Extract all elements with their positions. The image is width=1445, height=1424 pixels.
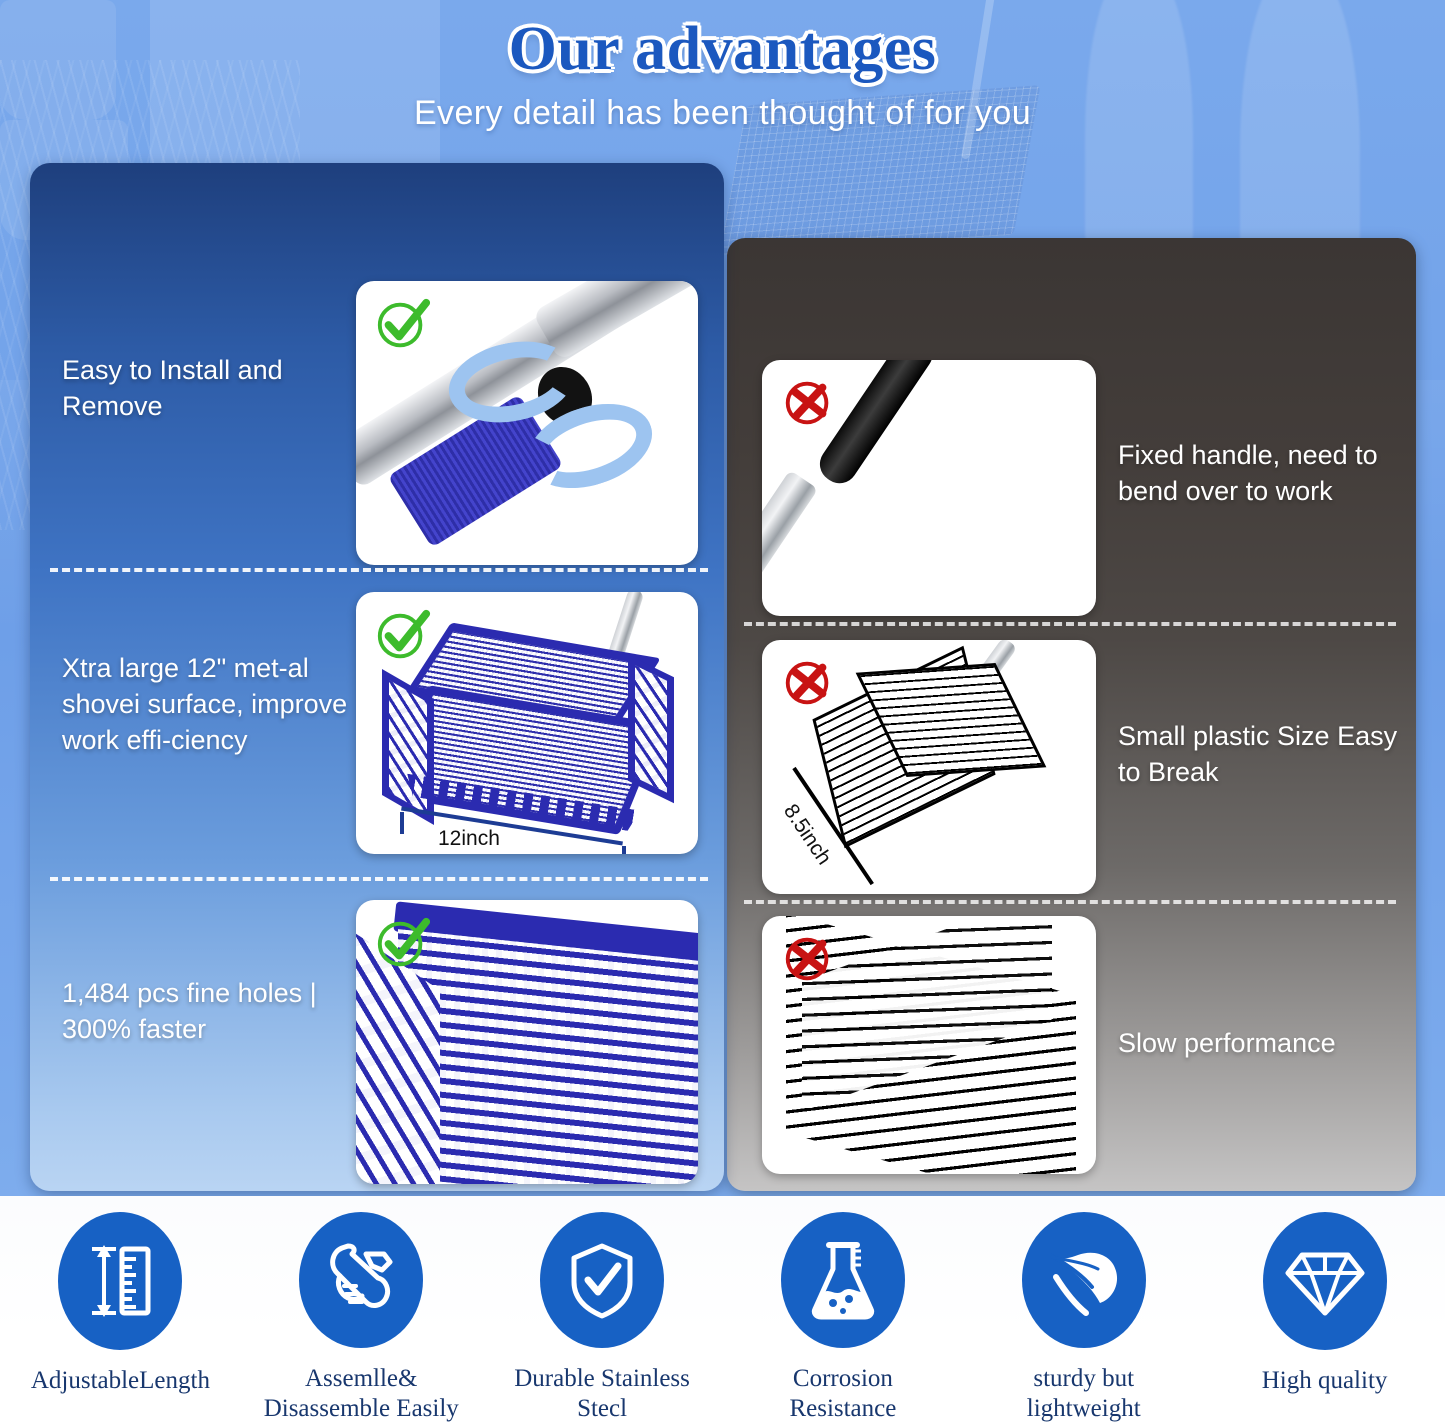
ours-divider-2	[50, 877, 708, 881]
wrench-hand-icon-badge	[299, 1212, 423, 1348]
others-row-1: Fixed handle, need to bend over to work	[1118, 437, 1408, 509]
others-row-1-image	[762, 360, 1096, 616]
page-title: Our advantages	[0, 0, 1445, 80]
others-row-3-label: Slow performance	[1118, 1025, 1408, 1061]
feather-icon-badge	[1022, 1212, 1146, 1348]
others-row-2: Small plastic Size Easy to Break	[1118, 718, 1408, 790]
ours-row-1-label: Easy to Install and Remove	[62, 352, 362, 424]
red-x-circle-icon	[780, 930, 838, 988]
ours-row-3-image	[356, 900, 698, 1184]
feature-label: Durable Stainless Stecl	[514, 1364, 690, 1424]
green-check-circle-icon	[374, 295, 432, 353]
feature-label: High quality	[1262, 1366, 1388, 1396]
others-row-2-dimension: 8.5inch	[778, 800, 836, 870]
feature-label: Corrosion Resistance	[789, 1364, 896, 1424]
red-x-circle-icon	[780, 374, 838, 432]
shield-check-icon-badge	[540, 1212, 664, 1348]
flask-icon-badge	[781, 1212, 905, 1348]
others-row-3-image	[762, 916, 1096, 1174]
ours-divider-1	[50, 568, 708, 572]
flask-icon	[807, 1239, 879, 1321]
others-row-1-label: Fixed handle, need to bend over to work	[1118, 437, 1408, 509]
ours-row-2-dimension: 12inch	[438, 827, 500, 851]
feature-item-high-quality[interactable]: High quality	[1204, 1196, 1445, 1424]
ours-row-3: 1,484 pcs fine holes | 300% faster	[62, 975, 362, 1047]
feature-bar: AdjustableLength Assemlle& Disassemble E…	[0, 1196, 1445, 1424]
feather-icon	[1042, 1241, 1126, 1319]
feature-item-adjustable-length[interactable]: AdjustableLength	[0, 1196, 241, 1424]
ours-row-1-image	[356, 281, 698, 565]
others-row-2-image: 8.5inch	[762, 640, 1096, 894]
feature-item-durable-stainless-steel[interactable]: Durable Stainless Stecl	[482, 1196, 723, 1424]
shield-check-icon	[566, 1240, 638, 1320]
green-check-circle-icon	[374, 606, 432, 664]
feature-label: sturdy but lightweight	[1027, 1364, 1141, 1424]
feature-item-sturdy-lightweight[interactable]: sturdy but lightweight	[963, 1196, 1204, 1424]
ours-row-2-label: Xtra large 12" met-al shovei surface, im…	[62, 650, 362, 759]
feature-label: Assemlle& Disassemble Easily	[264, 1364, 459, 1424]
ours-row-1: Easy to Install and Remove	[62, 352, 362, 424]
page-subtitle: Every detail has been thought of for you	[0, 94, 1445, 133]
header: Our advantages Every detail has been tho…	[0, 0, 1445, 160]
feature-item-corrosion-resistance[interactable]: Corrosion Resistance	[722, 1196, 963, 1424]
others-row-3: Slow performance	[1118, 1025, 1408, 1061]
ours-row-3-label: 1,484 pcs fine holes | 300% faster	[62, 975, 362, 1047]
ruler-icon	[84, 1241, 156, 1321]
ruler-icon-badge	[58, 1212, 182, 1350]
ours-row-2: Xtra large 12" met-al shovei surface, im…	[62, 650, 362, 759]
feature-item-assemble-disassemble[interactable]: Assemlle& Disassemble Easily	[241, 1196, 482, 1424]
red-x-circle-icon	[780, 654, 838, 712]
green-check-circle-icon	[374, 914, 432, 972]
diamond-icon	[1284, 1243, 1366, 1319]
others-divider-2	[744, 900, 1396, 904]
ours-row-2-image: 12inch	[356, 592, 698, 854]
feature-label: AdjustableLength	[31, 1366, 210, 1396]
others-row-2-label: Small plastic Size Easy to Break	[1118, 718, 1408, 790]
diamond-icon-badge	[1263, 1212, 1387, 1350]
wrench-hand-icon	[322, 1240, 400, 1320]
others-divider-1	[744, 622, 1396, 626]
